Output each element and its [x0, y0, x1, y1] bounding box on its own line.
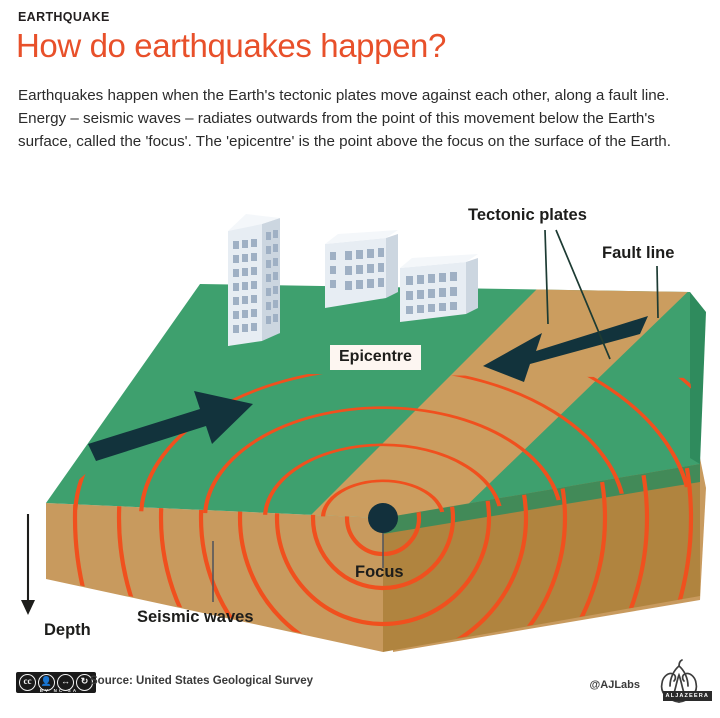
source-credit: Source: United States Geological Survey — [90, 675, 313, 687]
label-seismic-waves: Seismic waves — [137, 608, 254, 627]
depth-arrow — [21, 514, 35, 615]
building-tall — [228, 214, 280, 346]
focus-dot — [368, 503, 398, 533]
earthquake-block-diagram — [0, 196, 720, 656]
standfirst-text: Earthquakes happen when the Earth's tect… — [18, 84, 694, 153]
cc-license-word: BY NC SA — [17, 688, 101, 693]
aljazeera-wordmark: ALJAZEERA — [663, 691, 712, 701]
fault-leader — [657, 266, 658, 318]
building-right-right-face — [466, 258, 478, 314]
kicker-label: EARTHQUAKE — [18, 10, 110, 24]
label-depth: Depth — [44, 621, 91, 640]
label-focus: Focus — [355, 563, 404, 582]
footer: cc 👤 ↔ ↻ BY NC SA Source: United States … — [0, 660, 720, 718]
right-edge-sliver — [690, 292, 706, 464]
ajlabs-credit: @AJLabs — [590, 679, 640, 691]
label-epicentre: Epicentre — [330, 345, 421, 370]
earthquake-infographic: EARTHQUAKE How do earthquakes happen? Ea… — [0, 0, 720, 718]
page-title: How do earthquakes happen? — [16, 28, 446, 64]
front-left-face — [46, 503, 383, 652]
building-middle-right-face — [386, 234, 398, 298]
building-right — [400, 254, 478, 322]
building-middle — [325, 230, 398, 308]
diagram-stage: Tectonic plates Fault line Epicentre Foc… — [0, 196, 720, 656]
label-fault-line: Fault line — [602, 244, 674, 263]
label-tectonic-plates: Tectonic plates — [468, 206, 587, 225]
depth-arrow-head — [21, 600, 35, 615]
